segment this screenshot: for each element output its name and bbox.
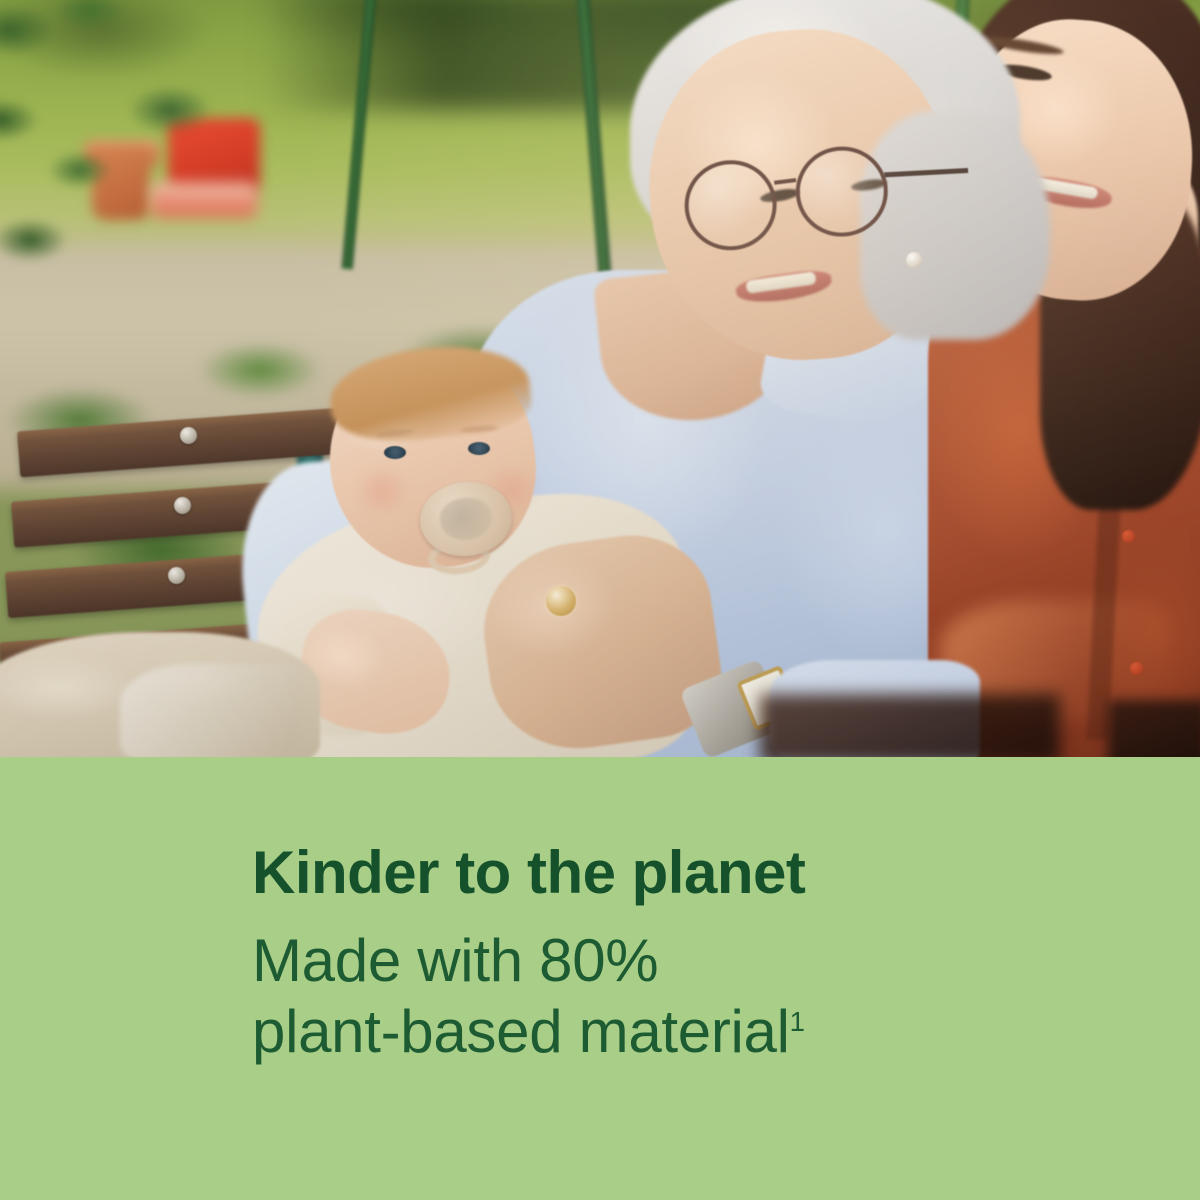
shadow-region	[760, 694, 1060, 757]
baby-eye	[468, 442, 490, 455]
caption-copy: Kinder to the planet Made with 80% plant…	[252, 843, 1152, 1068]
bench-screw	[180, 427, 197, 444]
subheadline-line-2-text: plant-based material	[252, 998, 790, 1065]
headline: Kinder to the planet	[252, 843, 1152, 903]
hero-photo	[0, 0, 1200, 757]
eyeglass-lens	[791, 141, 893, 242]
subheadline: Made with 80% plant-based material1	[252, 925, 1152, 1068]
bench-screw	[168, 567, 185, 584]
subheadline-line-1: Made with 80%	[252, 925, 1152, 996]
baby-eye	[384, 446, 406, 459]
eyeglass-bridge	[774, 178, 796, 185]
pearl-earring	[906, 252, 922, 268]
shirt-button	[1130, 662, 1143, 675]
shadow-region	[1108, 700, 1200, 757]
gold-ring	[546, 586, 576, 616]
shirt-button	[1122, 530, 1135, 543]
caption-band: Kinder to the planet Made with 80% plant…	[0, 757, 1200, 1200]
bench-screw	[174, 497, 191, 514]
baby-cheek	[352, 470, 412, 512]
advertisement-card: Kinder to the planet Made with 80% plant…	[0, 0, 1200, 1200]
blanket-fold	[120, 664, 300, 757]
eyeglass-lens	[679, 155, 781, 256]
foliage-cluster	[0, 0, 300, 320]
subheadline-line-2: plant-based material1	[252, 996, 1152, 1067]
footnote-marker: 1	[790, 1006, 805, 1037]
